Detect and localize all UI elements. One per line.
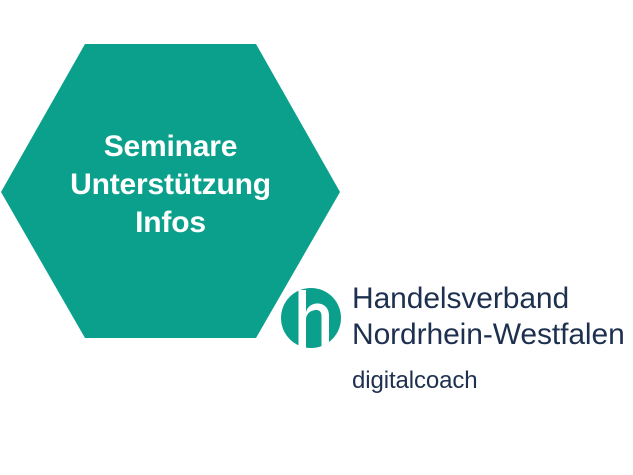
hexagon-headline-line-1: Seminare <box>0 128 341 166</box>
brand-tagline: digitalcoach <box>352 366 625 396</box>
hexagon-headline: Seminare Unterstützung Infos <box>0 128 341 242</box>
brand-wordmark: Handelsverband Nordrhein-Westfalen digit… <box>352 281 625 396</box>
brand-name-line-2: Nordrhein-Westfalen <box>352 317 625 353</box>
h-circle-logo-icon <box>278 282 348 352</box>
hexagon-headline-line-3: Infos <box>0 204 341 242</box>
brand-name-line-1: Handelsverband <box>352 281 625 317</box>
hexagon-headline-line-2: Unterstützung <box>0 166 341 204</box>
logo-canvas: Seminare Unterstützung Infos Handelsverb… <box>0 0 633 475</box>
